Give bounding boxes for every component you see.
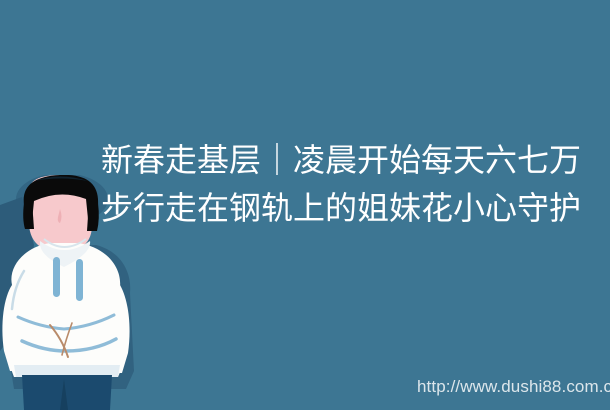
headline-line-2: 步行走在钢轨上的姐妹花小心守护 <box>101 184 587 232</box>
headline-line-1: 新春走基层｜凌晨开始每天六七万 <box>101 136 587 184</box>
drawstring-right <box>76 259 83 301</box>
page-title: 新春走基层｜凌晨开始每天六七万 步行走在钢轨上的姐妹花小心守护 <box>101 136 587 232</box>
hair-right-side <box>87 201 99 231</box>
drawstring-left <box>53 257 60 297</box>
watermark-url: http://www.dushi88.com.cn <box>417 377 610 397</box>
article-cover-image: 新春走基层｜凌晨开始每天六七万 步行走在钢轨上的姐妹花小心守护 http://w… <box>0 0 610 410</box>
